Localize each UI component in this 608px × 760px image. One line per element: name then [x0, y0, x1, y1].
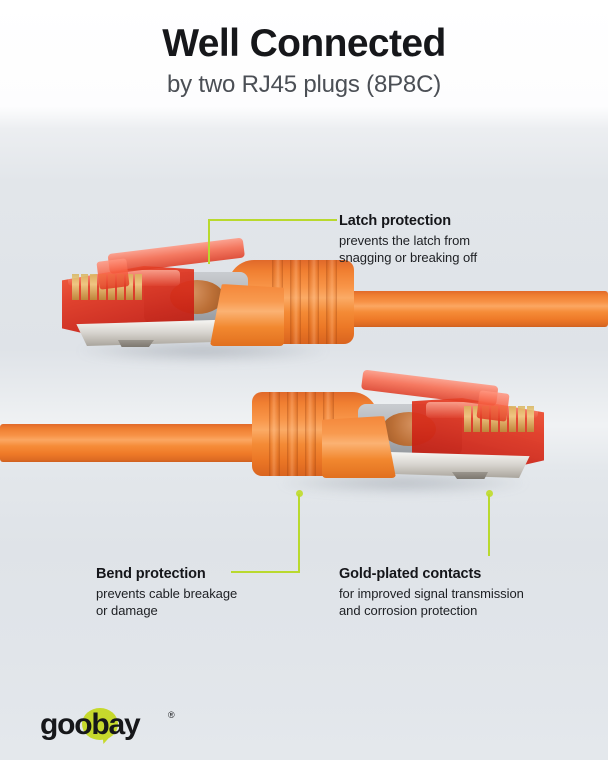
infographic-poster: Well Connected by two RJ45 plugs (8P8C) — [0, 0, 608, 760]
annotation-title: Latch protection — [339, 212, 477, 231]
contact-pin — [81, 274, 88, 300]
contact-pin — [464, 406, 471, 432]
annotation-line: and corrosion protection — [339, 602, 524, 619]
annotation-title: Bend protection — [96, 565, 237, 584]
latch-base — [476, 390, 509, 421]
contact-pin — [135, 274, 142, 300]
logo-wordmark: goobay — [40, 706, 139, 744]
contact-pin — [90, 274, 97, 300]
header: Well Connected by two RJ45 plugs (8P8C) — [0, 0, 608, 98]
leader-segment-vertical — [488, 494, 490, 556]
contact-pin — [527, 406, 534, 432]
page-title: Well Connected — [0, 0, 608, 65]
annotation-line: prevents cable breakage — [96, 585, 237, 602]
boot-rib — [326, 260, 337, 344]
shield-notch — [118, 340, 154, 347]
boot-saddle — [210, 284, 284, 346]
latch-base — [96, 258, 129, 289]
boot-rib — [308, 260, 319, 344]
annotation-bend-protection: Bend protection prevents cable breakage … — [96, 565, 237, 619]
annotation-line: or damage — [96, 602, 237, 619]
contact-pin — [518, 406, 525, 432]
boot-rib — [269, 392, 280, 476]
annotation-line: for improved signal transmission — [339, 585, 524, 602]
registered-trademark-mark: ® — [168, 710, 175, 720]
shield-notch — [452, 472, 488, 479]
leader-segment-vertical — [298, 494, 300, 573]
annotation-gold-plated-contacts: Gold-plated contacts for improved signal… — [339, 565, 524, 619]
leader-segment-horizontal — [231, 571, 300, 573]
goobay-logo: goobay ® — [40, 706, 190, 744]
annotation-line: prevents the latch from — [339, 232, 477, 249]
annotation-latch-protection: Latch protection prevents the latch from… — [339, 212, 477, 266]
rj45-plug-bottom — [248, 368, 548, 493]
contact-pin — [72, 274, 79, 300]
leader-segment-vertical — [208, 219, 210, 264]
contact-pin — [509, 406, 516, 432]
page-subtitle: by two RJ45 plugs (8P8C) — [0, 65, 608, 98]
boot-rib — [305, 392, 316, 476]
leader-segment-horizontal — [208, 219, 337, 221]
annotation-title: Gold-plated contacts — [339, 565, 524, 584]
boot-rib — [290, 260, 301, 344]
annotation-line: snagging or breaking off — [339, 249, 477, 266]
boot-rib — [287, 392, 298, 476]
boot-saddle — [322, 416, 396, 478]
